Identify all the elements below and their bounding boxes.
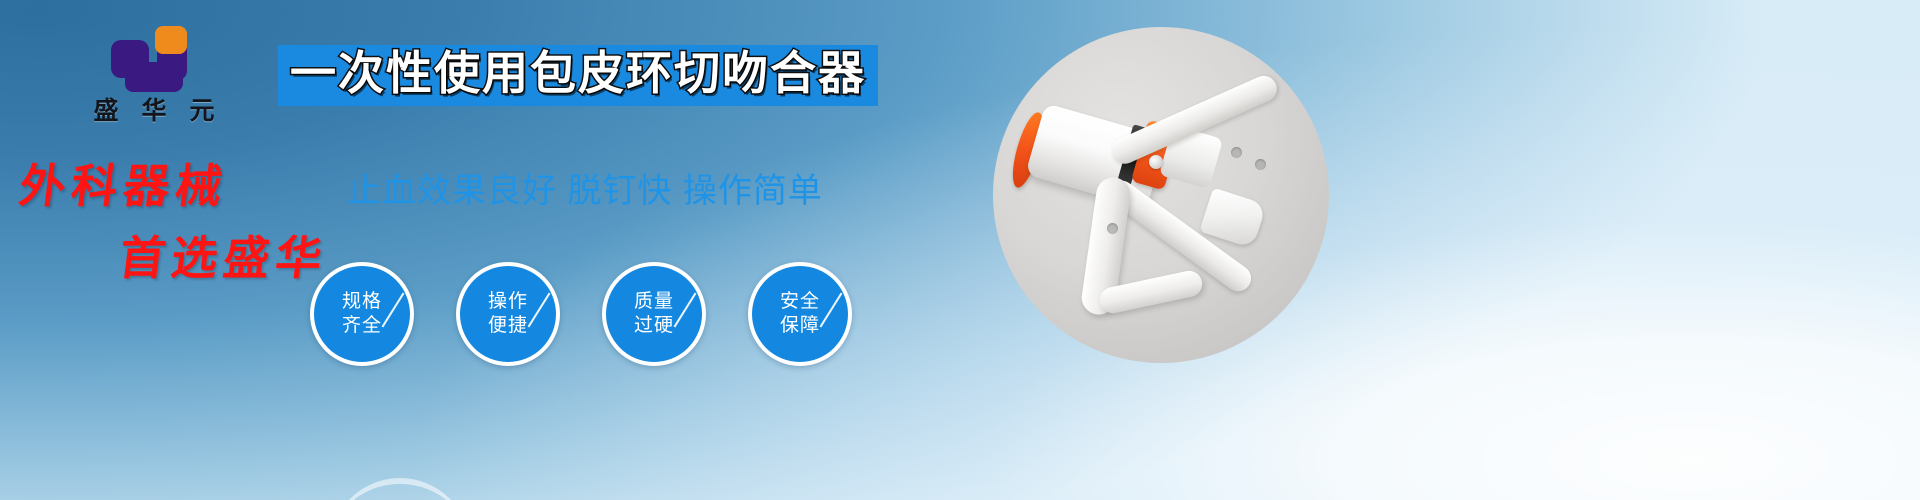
brand-logo-block: 盛 华 元: [64, 26, 244, 126]
slogan-calligraphy: 外科器械 首选盛华: [20, 150, 350, 288]
device-hole: [1107, 223, 1118, 234]
device-anvil-cap: [1199, 187, 1266, 248]
feature-badge[interactable]: 安全 保障: [748, 262, 852, 366]
feature-badge-list: 规格 齐全 操作 便捷 质量 过硬 安全 保障: [310, 262, 852, 366]
device-hole: [1255, 159, 1266, 170]
feature-badge[interactable]: 操作 便捷: [456, 262, 560, 366]
badge-label-line2: 过硬: [634, 314, 674, 338]
badge-slash-icon: [528, 293, 551, 328]
badge-label-line1: 质量: [634, 290, 674, 314]
badge-slash-icon: [674, 293, 697, 328]
device-pivot: [1149, 155, 1163, 169]
badge-label-line1: 规格: [342, 290, 382, 314]
feature-badge[interactable]: 规格 齐全: [310, 262, 414, 366]
product-title-bar: 一次性使用包皮环切吻合器: [278, 45, 878, 106]
badge-label-line2: 保障: [780, 314, 820, 338]
badge-slash-icon: [382, 293, 405, 328]
device-hole: [1231, 147, 1242, 158]
product-photo: [993, 27, 1329, 363]
product-title: 一次性使用包皮环切吻合器: [290, 48, 866, 100]
feature-badge[interactable]: 质量 过硬: [602, 262, 706, 366]
badge-label-line1: 安全: [780, 290, 820, 314]
shenghuayuan-blocks-logo-icon: [111, 26, 197, 92]
brand-name: 盛 华 元: [64, 98, 244, 126]
promo-banner: 盛 华 元 一次性使用包皮环切吻合器 外科器械 首选盛华 止血效果良好 脱钉快 …: [0, 0, 1920, 500]
badge-label-line2: 齐全: [342, 314, 382, 338]
badge-slash-icon: [820, 293, 843, 328]
slogan-line-1: 外科器械: [16, 150, 354, 216]
badge-label-line2: 便捷: [488, 314, 528, 338]
decorative-arc: [330, 478, 470, 500]
product-subtitle: 止血效果良好 脱钉快 操作简单: [347, 163, 823, 212]
badge-label-line1: 操作: [488, 290, 528, 314]
